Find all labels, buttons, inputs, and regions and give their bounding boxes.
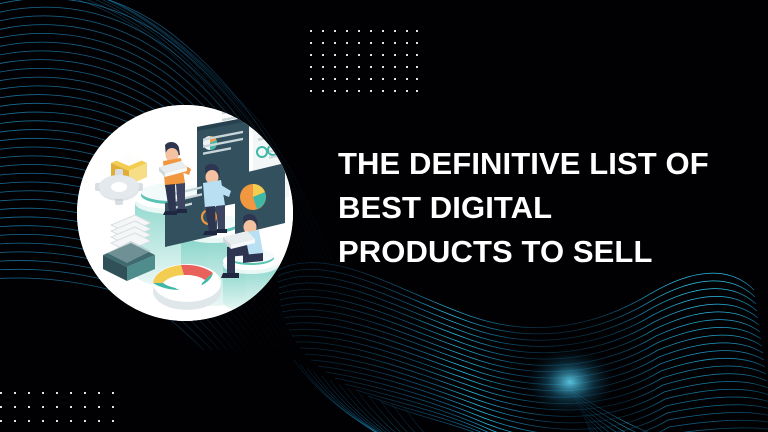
donut-chart-icon: [153, 264, 221, 310]
wave-mesh-bottom-right-icon: [270, 250, 768, 432]
illustration-circle: [77, 105, 293, 321]
dot-grid-bottom-icon: [0, 392, 120, 432]
headline-line-2: BEST DIGITAL: [338, 186, 748, 230]
isometric-data-analytics-illustration: [77, 105, 293, 321]
dot-grid-top-icon: [310, 30, 418, 92]
headline-line-1: THE DEFINITIVE LIST OF: [338, 142, 748, 186]
headline-line-3: PRODUCTS TO SELL: [338, 230, 748, 274]
page-title: THE DEFINITIVE LIST OF BEST DIGITAL PROD…: [338, 142, 748, 274]
promo-banner: THE DEFINITIVE LIST OF BEST DIGITAL PROD…: [0, 0, 768, 432]
